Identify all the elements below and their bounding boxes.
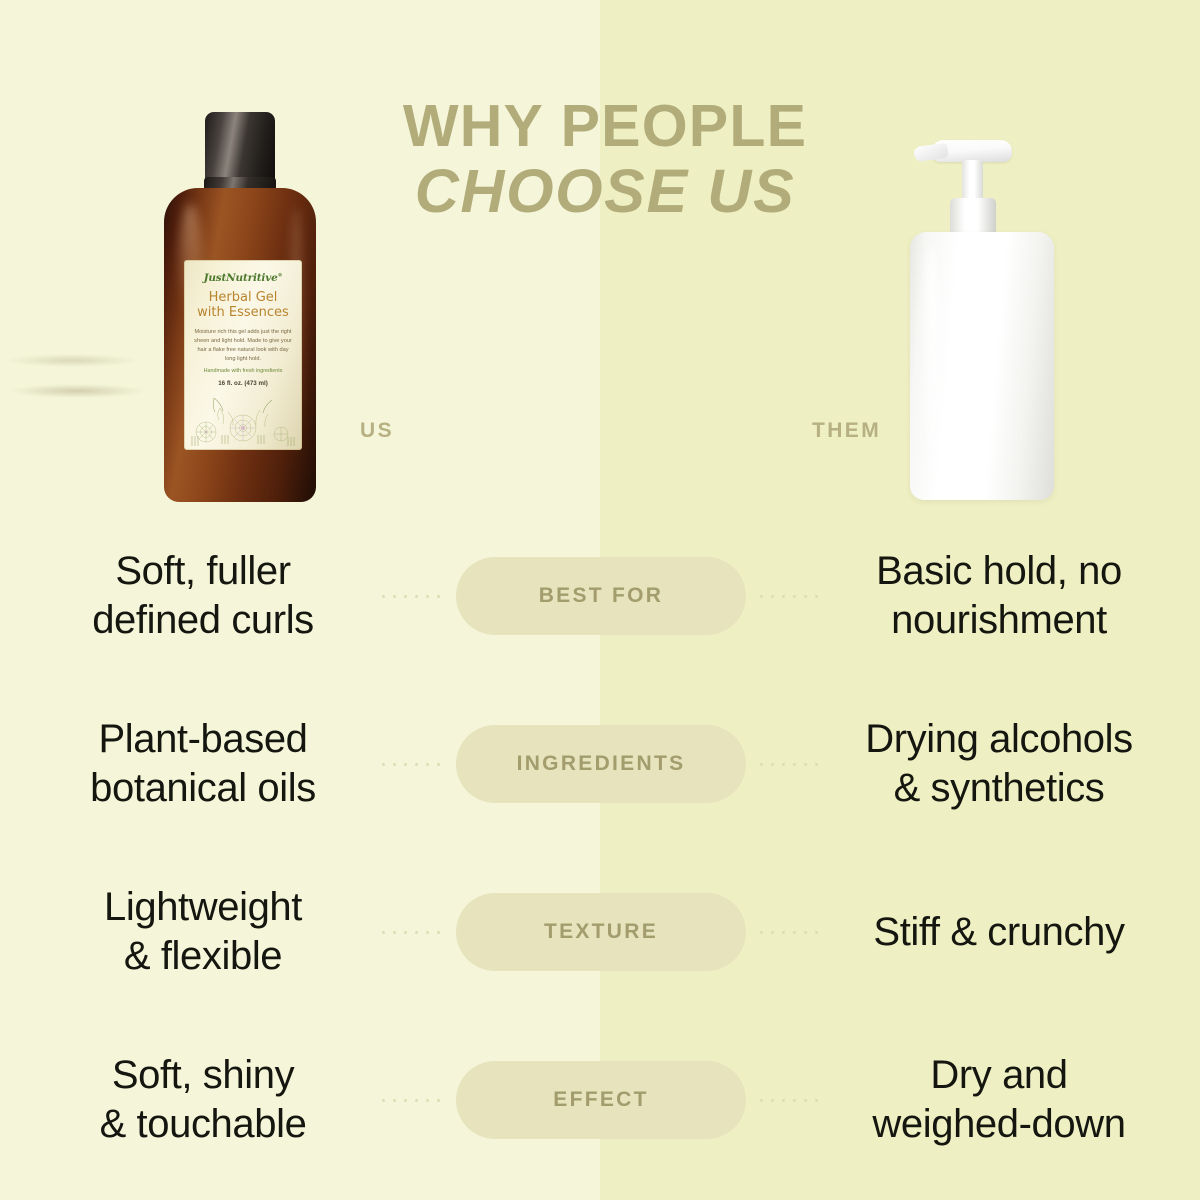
title-line-2: CHOOSE US [340,162,870,222]
infographic-page: WHY PEOPLE CHOOSE US JustNutritive® Herb… [0,0,1200,1200]
row-middle: EFFECT [378,1061,824,1139]
cell-us: Soft, shiny & touchable [0,1051,378,1149]
cell-them-line-1: Stiff & crunchy [824,908,1174,957]
cell-them: Dry and weighed-down [824,1051,1200,1149]
category-badge: INGREDIENTS [456,725,746,803]
cell-them-line-1: Dry and [824,1051,1174,1100]
dotted-connector-right [756,595,824,598]
label-size: 16 fl. oz. (473 ml) [184,380,302,387]
comparison-row: Lightweight & flexible TEXTURE Stiff & c… [0,848,1200,1016]
cell-us: Lightweight & flexible [0,883,378,981]
cell-us-line-1: Lightweight [28,883,378,932]
label-title-line-1: Herbal Gel [184,291,302,306]
category-badge: BEST FOR [456,557,746,635]
pump-collar [950,198,996,236]
dotted-connector-right [756,931,824,934]
column-label-them: THEM [812,419,881,443]
dotted-connector-right [756,763,824,766]
row-middle: TEXTURE [378,893,824,971]
label-brand: JustNutritive® [184,272,302,284]
cell-us-line-1: Plant-based [28,715,378,764]
product-image-them [910,140,1054,502]
comparison-row: Soft, fuller defined curls BEST FOR Basi… [0,512,1200,680]
cell-them-line-2: nourishment [824,596,1174,645]
dotted-connector-right [756,1099,824,1102]
category-badge: EFFECT [456,1061,746,1139]
label-title: Herbal Gel with Essences [184,291,302,320]
label-title-line-2: with Essences [184,306,302,321]
label-brand-text: JustNutritive [204,272,278,284]
comparison-row: Plant-based botanical oils INGREDIENTS D… [0,680,1200,848]
row-middle: INGREDIENTS [378,725,824,803]
botanical-illustration-icon [184,388,302,450]
product-them-shadow [6,354,138,367]
label-brand-mark: ® [278,273,283,279]
comparison-table: Soft, fuller defined curls BEST FOR Basi… [0,512,1200,1184]
bottle-cap-icon [205,112,275,184]
cell-them-line-1: Drying alcohols [824,715,1174,764]
dotted-connector-left [378,1099,446,1102]
cell-us-line-2: & flexible [28,932,378,981]
dotted-connector-left [378,931,446,934]
cell-them: Basic hold, no nourishment [824,547,1200,645]
cell-us-line-2: & touchable [28,1100,378,1149]
cell-us: Plant-based botanical oils [0,715,378,813]
dotted-connector-left [378,763,446,766]
title-line-1: WHY PEOPLE [340,98,870,156]
cell-them: Stiff & crunchy [824,908,1200,957]
product-us-shadow [10,384,145,398]
column-label-us: US [360,419,394,443]
page-title: WHY PEOPLE CHOOSE US [340,98,870,222]
product-image-us: JustNutritive® Herbal Gel with Essences … [164,112,316,502]
cell-us-line-2: botanical oils [28,764,378,813]
cell-them: Drying alcohols & synthetics [824,715,1200,813]
cell-us-line-1: Soft, shiny [28,1051,378,1100]
label-description: Moisture rich this gel adds just the rig… [193,328,293,364]
cell-us-line-1: Soft, fuller [28,547,378,596]
cell-them-line-2: weighed-down [824,1100,1174,1149]
cell-us: Soft, fuller defined curls [0,547,378,645]
dotted-connector-left [378,595,446,598]
cell-them-line-1: Basic hold, no [824,547,1174,596]
cell-us-line-2: defined curls [28,596,378,645]
bottle-body [910,232,1054,500]
pump-dispenser-icon [932,140,1012,162]
cell-them-line-2: & synthetics [824,764,1174,813]
category-badge: TEXTURE [456,893,746,971]
label-handmade-note: Handmade with fresh ingredients [184,368,302,374]
row-middle: BEST FOR [378,557,824,635]
product-label-us: JustNutritive® Herbal Gel with Essences … [184,260,302,450]
comparison-row: Soft, shiny & touchable EFFECT Dry and w… [0,1016,1200,1184]
